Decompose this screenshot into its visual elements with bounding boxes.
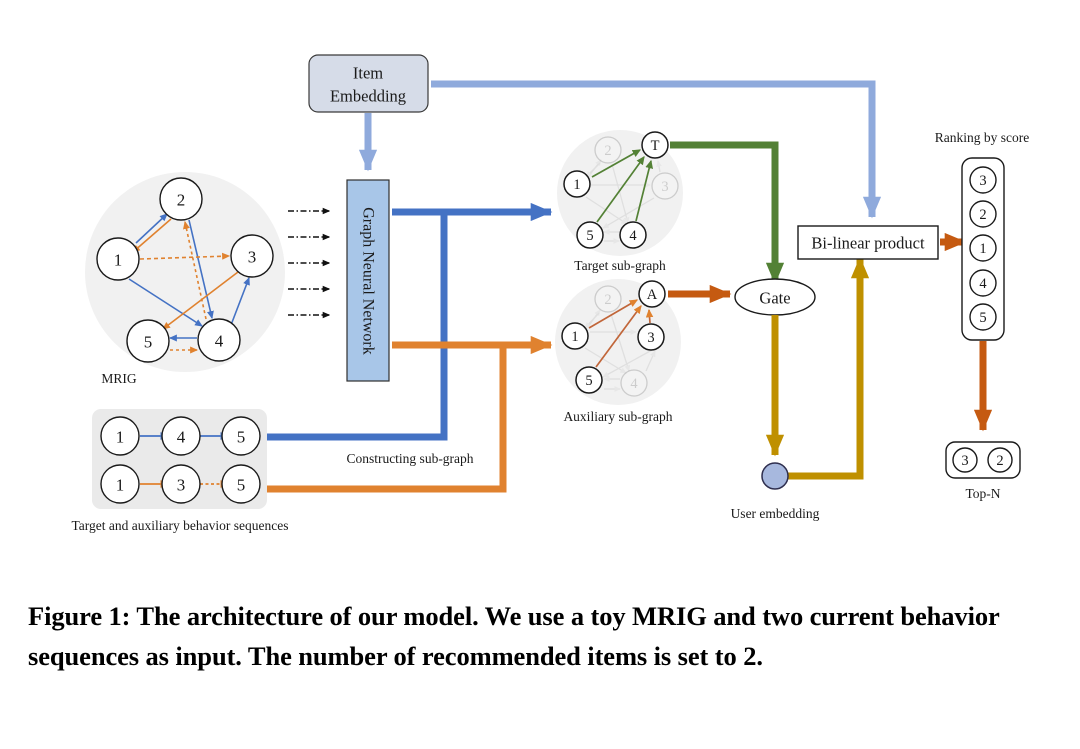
mrig-node-3: 3 <box>231 235 273 277</box>
ranking-title: Ranking by score <box>935 130 1029 145</box>
ranking-item-label: 4 <box>979 276 987 292</box>
constructing-subgraph-label: Constructing sub-graph <box>346 451 473 466</box>
mrig-node-3-label: 3 <box>248 248 257 267</box>
mrig-graph: 1 2 3 4 5 MRIG <box>85 172 285 386</box>
gate-label: Gate <box>759 289 790 308</box>
auxiliary-seq-node-label: 1 <box>116 476 125 495</box>
gate-block[interactable]: Gate <box>735 279 815 315</box>
figure-root: 1 2 3 4 5 MRIG <box>0 0 1080 749</box>
auxiliary-edge-3-A <box>649 310 650 323</box>
arrow-target-subgraph-to-gate <box>670 145 775 283</box>
target-seq-node-label: 5 <box>237 428 246 447</box>
topn-block: 3 2 Top-N <box>946 442 1020 501</box>
target-subgraph-caption: Target sub-graph <box>574 258 666 273</box>
target-node-5-label: 5 <box>586 228 593 244</box>
auxiliary-node-3-label: 3 <box>647 330 654 346</box>
target-node-2-label: 2 <box>604 143 611 159</box>
mrig-node-2: 2 <box>160 178 202 220</box>
auxiliary-subgraph-caption: Auxiliary sub-graph <box>563 409 672 424</box>
ranking-item: 2 <box>970 201 996 227</box>
auxiliary-seq-node-label: 3 <box>177 476 186 495</box>
target-node-1-label: 1 <box>573 177 580 193</box>
topn-item: 3 <box>953 448 977 472</box>
ranking-item: 5 <box>970 304 996 330</box>
dashed-input-arrows <box>288 211 329 315</box>
item-embedding-block[interactable]: Item Embedding <box>309 55 428 112</box>
topn-item-label: 2 <box>996 453 1003 469</box>
mrig-node-5-label: 5 <box>144 333 153 352</box>
bilinear-product-label: Bi-linear product <box>811 234 925 253</box>
gnn-block[interactable]: Graph Neural Network <box>347 180 389 381</box>
mrig-node-1: 1 <box>97 238 139 280</box>
gnn-label: Graph Neural Network <box>360 207 377 355</box>
auxiliary-node-1-label: 1 <box>571 329 578 345</box>
ranking-list-block: Ranking by score 3 2 1 4 <box>935 130 1029 340</box>
mrig-node-4-label: 4 <box>215 332 224 351</box>
target-behavior-sequence: 1 4 5 <box>101 417 260 455</box>
ranking-item-label: 2 <box>979 207 986 223</box>
target-seq-node-label: 1 <box>116 428 125 447</box>
ranking-item-label: 5 <box>979 310 986 326</box>
auxiliary-node-4-label: 4 <box>630 376 638 392</box>
auxiliary-seq-node-label: 5 <box>237 476 246 495</box>
target-subgraph: 2 3 T 1 5 4 Target sub-graph <box>557 130 683 273</box>
mrig-node-5: 5 <box>127 320 169 362</box>
target-node-3-label: 3 <box>661 179 668 195</box>
item-embedding-label-line2: Embedding <box>330 87 406 106</box>
topn-item: 2 <box>988 448 1012 472</box>
behavior-sequences-panel: 1 4 5 1 3 5 Target and auxiliary behavio… <box>72 409 289 533</box>
behavior-sequences-caption: Target and auxiliary behavior sequences <box>72 518 289 533</box>
mrig-node-2-label: 2 <box>177 191 186 210</box>
architecture-diagram: 1 2 3 4 5 MRIG <box>0 0 1080 560</box>
target-node-T-label: T <box>651 138 660 154</box>
auxiliary-subgraph: 2 4 A 1 3 5 Auxiliary sub-graph <box>555 279 681 424</box>
auxiliary-node-A-label: A <box>647 287 658 303</box>
item-embedding-label-line1: Item <box>353 64 383 83</box>
ranking-item: 1 <box>970 235 996 261</box>
target-node-4-label: 4 <box>629 228 637 244</box>
mrig-node-1-label: 1 <box>114 251 123 270</box>
user-embedding-label: User embedding <box>731 506 820 521</box>
ranking-item-label: 3 <box>979 173 986 189</box>
auxiliary-behavior-sequence: 1 3 5 <box>101 465 260 503</box>
ranking-item-label: 1 <box>979 241 986 257</box>
user-embedding-block: User embedding <box>731 463 820 521</box>
auxiliary-node-2-label: 2 <box>604 292 611 308</box>
ranking-item: 4 <box>970 270 996 296</box>
user-embedding-circle <box>762 463 788 489</box>
mrig-caption: MRIG <box>101 371 137 386</box>
bilinear-product-block[interactable]: Bi-linear product <box>798 226 938 259</box>
figure-caption: Figure 1: The architecture of our model.… <box>28 596 1052 676</box>
topn-item-label: 3 <box>961 453 968 469</box>
auxiliary-node-5-label: 5 <box>585 373 592 389</box>
mrig-node-4: 4 <box>198 319 240 361</box>
target-seq-node-label: 4 <box>177 428 186 447</box>
topn-caption: Top-N <box>965 486 1000 501</box>
ranking-item: 3 <box>970 167 996 193</box>
